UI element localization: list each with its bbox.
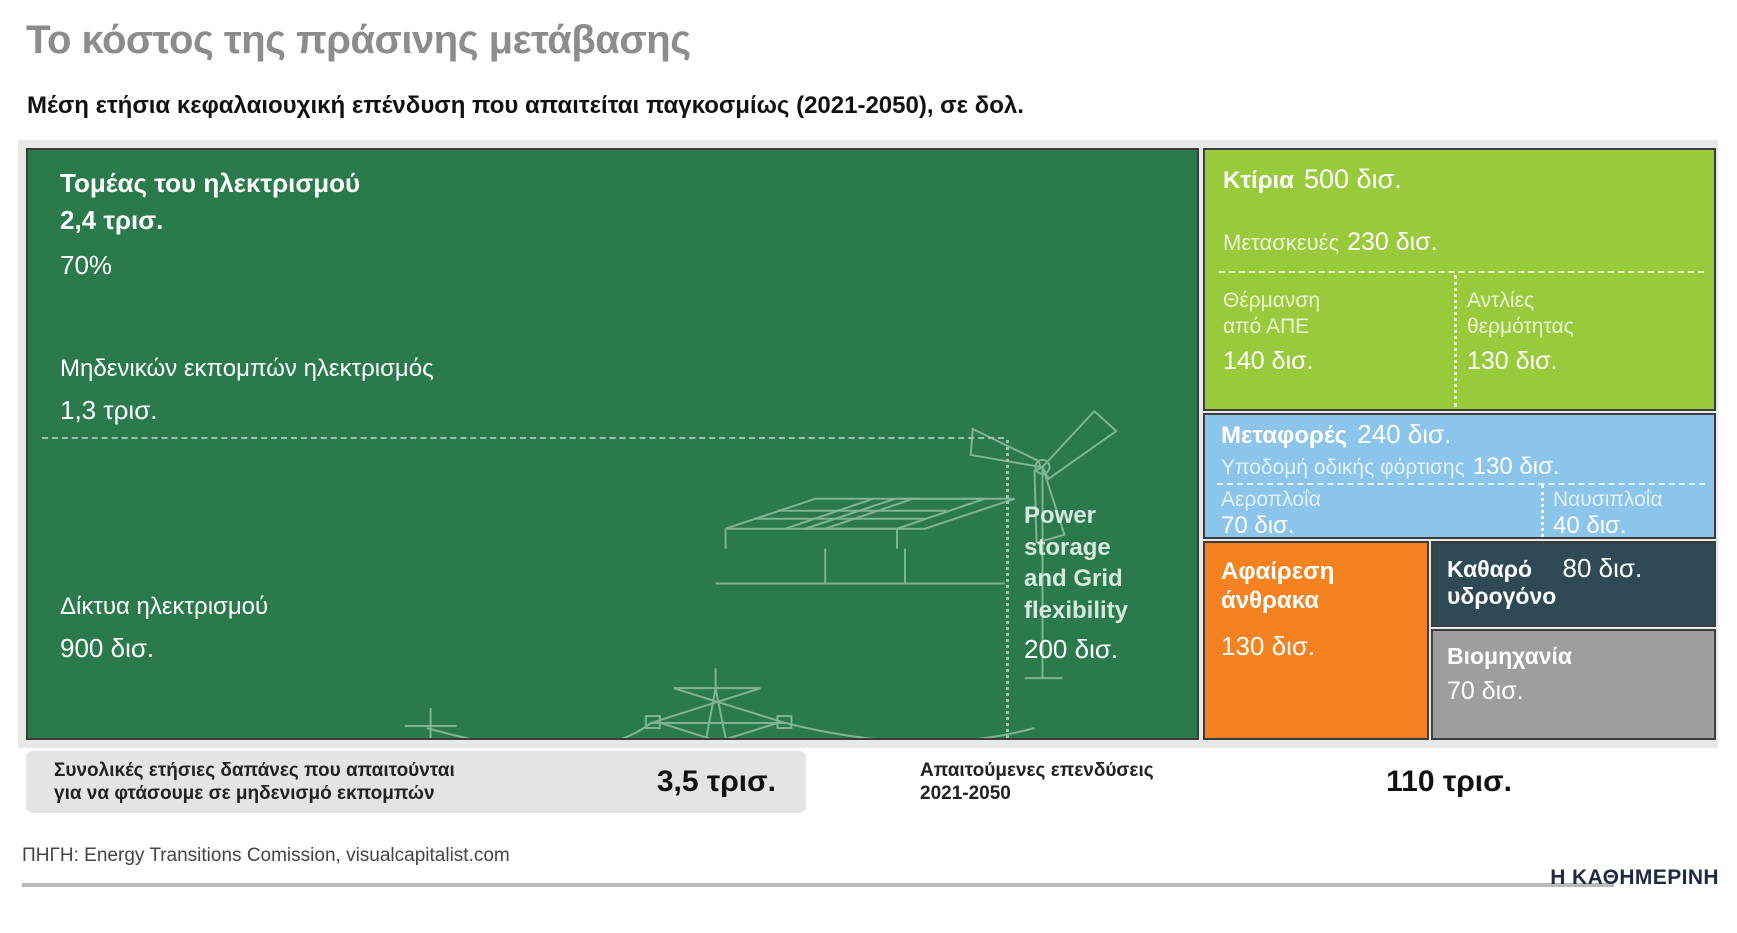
charging-value: 130 δισ. [1473,453,1560,480]
electricity-value: 2,4 τρισ. [60,205,163,236]
source-note: ΠΗΓΗ: Energy Transitions Comission, visu… [22,845,510,867]
carbon-removal-value: 130 δισ. [1221,631,1315,662]
total-investment-label: Απαιτούμενες επενδύσεις 2021-2050 [920,759,1154,805]
heating-label: Θέρμανση από ΑΠΕ [1223,288,1443,341]
electricity-percent: 70% [60,250,112,281]
treemap-cell-carbon-removal[interactable]: Αφαίρεση άνθρακα 130 δισ. [1203,541,1429,740]
total-investment-bar: Απαιτούμενες επενδύσεις 2021-2050 110 τρ… [892,751,1692,813]
retrofit-value: 230 δισ. [1347,228,1438,256]
buildings-vertical-divider [1454,275,1457,407]
page-title: Το κόστος της πράσινης μετάβασης [26,18,691,63]
publisher-logo: Η ΚΑΘΗΜΕΡΙΝΗ [1550,866,1719,890]
hydrogen-header: Καθαρό 80 δισ. [1447,553,1642,584]
treemap-cell-electricity[interactable]: Τομέας του ηλεκτρισμού 2,4 τρισ. 70% Μηδ… [26,148,1199,740]
treemap-cell-transport[interactable]: Μεταφορές240 δισ. Υποδομή οδικής φόρτιση… [1203,413,1716,539]
treemap: Τομέας του ηλεκτρισμού 2,4 τρισ. 70% Μηδ… [26,148,1710,740]
industry-label: Βιομηχανία [1447,643,1572,670]
transport-horizontal-divider [1217,483,1705,485]
shipping-value: 40 δισ. [1553,512,1663,539]
industry-value: 70 δισ. [1447,677,1524,706]
electricity-horizontal-divider [42,437,1004,439]
heatpumps-value: 130 δισ. [1467,347,1697,376]
shipping-label: Ναυσιπλοΐα [1553,488,1663,512]
energy-illustration [28,150,1197,740]
transport-value: 240 δισ. [1357,419,1451,449]
buildings-header: Κτίρια500 δισ. [1223,164,1402,195]
treemap-cell-buildings[interactable]: Κτίρια500 δισ. Μετασκευές230 δισ. Θέρμαν… [1203,148,1716,411]
transport-header: Μεταφορές240 δισ. [1221,419,1451,450]
hydrogen-label-line1: Καθαρό [1447,556,1532,582]
heating-value: 140 δισ. [1223,347,1443,376]
electricity-label: Τομέας του ηλεκτρισμού [60,168,360,199]
buildings-value: 500 δισ. [1304,164,1402,194]
carbon-removal-label: Αφαίρεση άνθρακα [1221,557,1334,616]
hydrogen-value: 80 δισ. [1563,553,1643,583]
infographic-page: Το κόστος της πράσινης μετάβασης Μέση ετ… [0,0,1737,933]
grids-label: Δίκτυα ηλεκτρισμού [60,593,268,621]
grids-value: 900 δισ. [60,633,154,664]
aviation-label: Αεροπλοΐα [1221,488,1321,512]
retrofit-row: Μετασκευές230 δισ. [1223,228,1438,257]
charging-label: Υποδομή οδικής φόρτισης [1221,456,1465,479]
power-storage-label: Power storage and Grid flexibility [1024,500,1128,627]
heatpumps-label: Αντλίες θερμότητας [1467,288,1697,341]
retrofit-label: Μετασκευές [1223,230,1339,255]
footer-divider [22,883,1614,887]
hydrogen-label-line2: υδρογόνο [1447,583,1556,610]
total-annual-label: Συνολικές ετήσιες δαπάνες που απαιτούντα… [54,759,455,805]
buildings-label: Κτίρια [1223,167,1294,194]
charging-row: Υποδομή οδικής φόρτισης130 δισ. [1221,453,1560,481]
aviation-value: 70 δισ. [1221,512,1321,539]
shipping-block: Ναυσιπλοΐα 40 δισ. [1553,488,1663,539]
total-investment-amount: 110 τρισ. [1386,765,1512,799]
aviation-block: Αεροπλοΐα 70 δισ. [1221,488,1321,539]
electricity-vertical-divider [1006,440,1009,738]
page-subtitle: Μέση ετήσια κεφαλαιουχική επένδυση που α… [27,92,1024,120]
power-storage-value: 200 δισ. [1024,634,1118,665]
heating-block: Θέρμανση από ΑΠΕ 140 δισ. [1223,288,1443,376]
total-annual-amount: 3,5 τρισ. [657,765,776,799]
transport-label: Μεταφορές [1221,422,1347,449]
zero-emissions-label: Μηδενικών εκπομπών ηλεκτρισμός [60,355,434,383]
heatpumps-block: Αντλίες θερμότητας 130 δισ. [1467,288,1697,376]
treemap-cell-hydrogen[interactable]: Καθαρό 80 δισ. υδρογόνο [1431,541,1716,627]
treemap-frame: Τομέας του ηλεκτρισμού 2,4 τρισ. 70% Μηδ… [18,140,1718,748]
treemap-cell-industry[interactable]: Βιομηχανία 70 δισ. [1431,629,1716,740]
total-annual-bar: Συνολικές ετήσιες δαπάνες που απαιτούντα… [26,751,806,813]
transport-vertical-divider [1541,485,1544,537]
buildings-horizontal-divider [1219,271,1704,273]
zero-emissions-value: 1,3 τρισ. [60,395,157,426]
